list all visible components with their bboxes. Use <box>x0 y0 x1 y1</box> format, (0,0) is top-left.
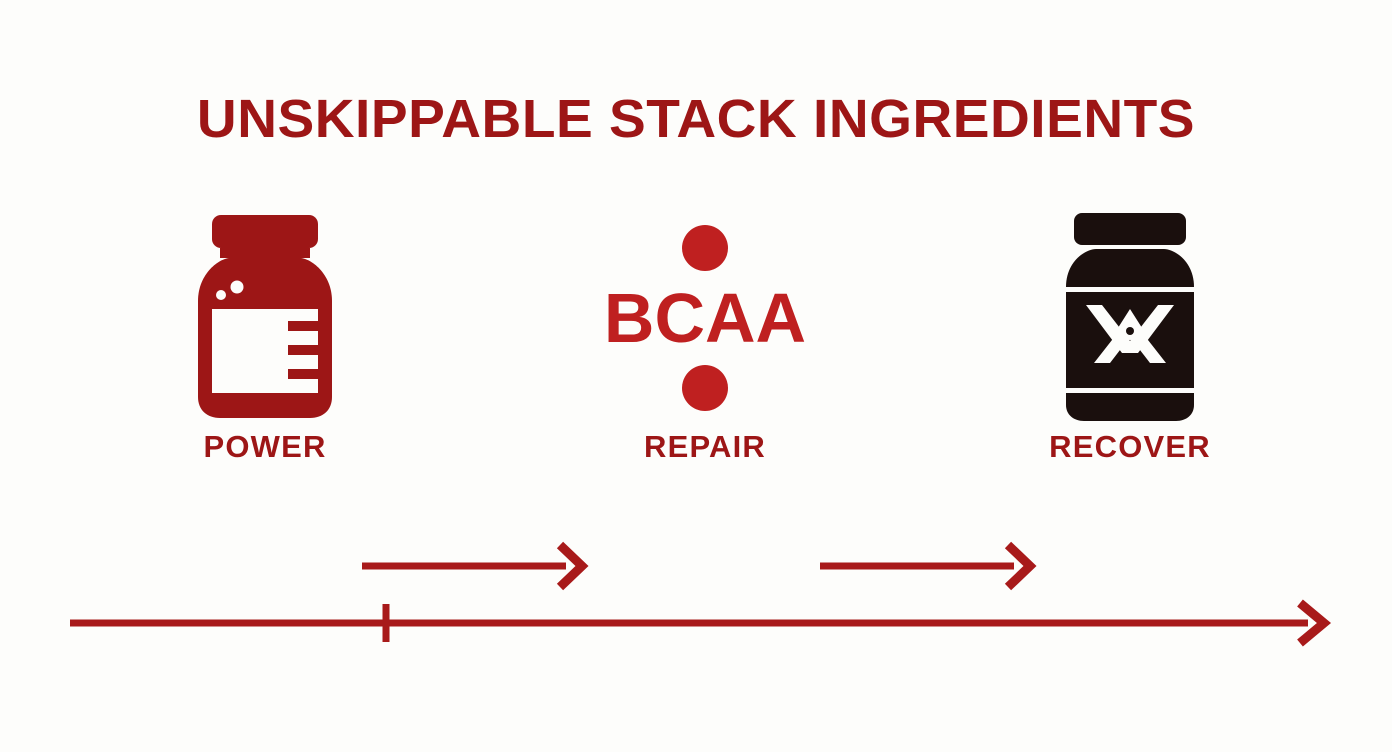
step-recover: RECOVER <box>980 210 1280 462</box>
bcaa-molecule-icon: BCAA <box>605 225 805 411</box>
progress-timeline <box>70 592 1332 654</box>
step-repair-icon-slot: BCAA <box>555 210 855 425</box>
step-recover-icon-slot <box>980 210 1280 425</box>
infographic-canvas: UNSKIPPABLE STACK INGREDIENTS <box>0 0 1392 752</box>
supplement-jar-black-icon <box>1050 213 1210 423</box>
step-power-icon-slot <box>115 210 415 425</box>
arrow-power-to-repair <box>360 540 588 592</box>
step-recover-label: RECOVER <box>980 431 1280 462</box>
step-repair: BCAA REPAIR <box>555 210 855 462</box>
bcaa-wordmark: BCAA <box>604 279 806 357</box>
arrow-repair-to-recover <box>818 540 1036 592</box>
step-power-label: POWER <box>115 431 415 462</box>
page-title: UNSKIPPABLE STACK INGREDIENTS <box>0 92 1392 146</box>
step-repair-label: REPAIR <box>555 431 855 462</box>
step-power: POWER <box>115 210 415 462</box>
stack-steps-row: POWER BCAA REPAIR <box>0 210 1392 510</box>
supplement-jar-red-icon <box>176 215 354 420</box>
